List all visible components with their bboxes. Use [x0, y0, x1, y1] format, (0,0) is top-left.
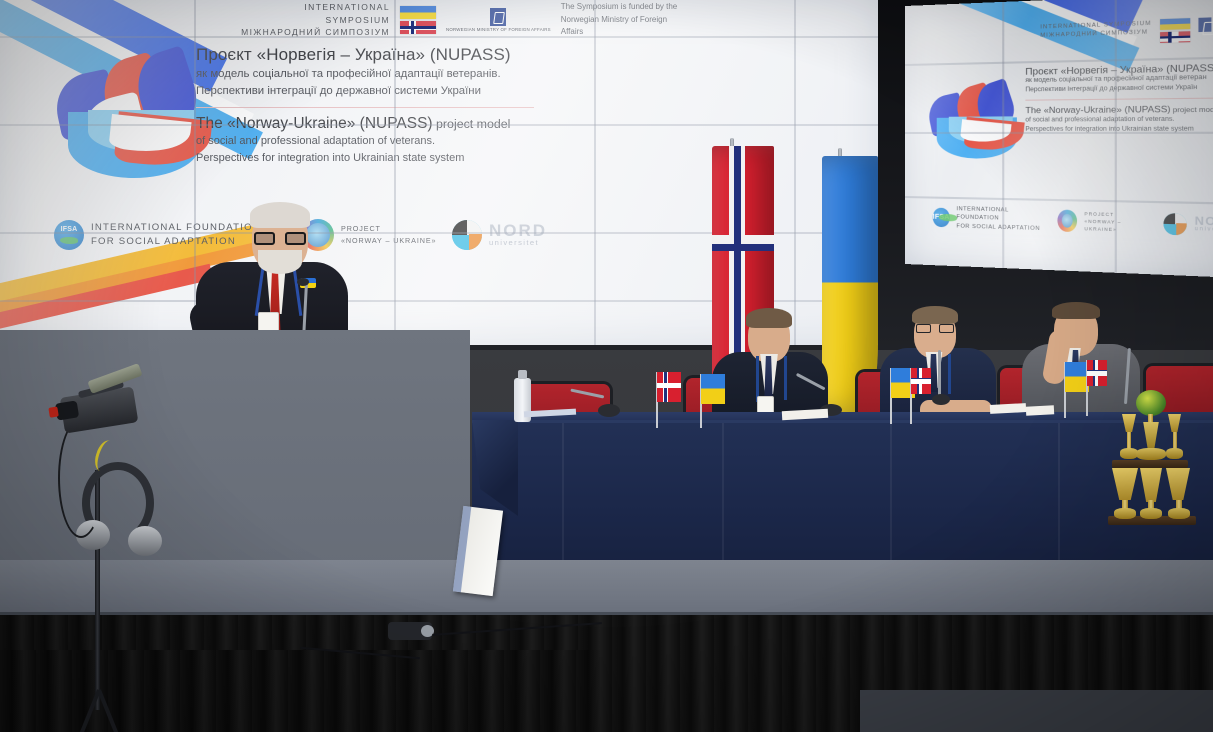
panel-seam	[1115, 0, 1117, 273]
panelist-2-hair	[912, 306, 958, 324]
side-ministry-logo	[1198, 17, 1211, 32]
trophy-globe-icon	[1136, 390, 1166, 416]
ukraine-flag-icon	[1160, 18, 1190, 30]
side-screen-text: Проєкт «Норвегія – Україна» (NUPASS) як …	[1025, 60, 1213, 134]
panel-seam	[905, 196, 1213, 205]
speaker-glasses-icon	[254, 232, 306, 245]
panelist-2-lanyard	[948, 354, 951, 394]
project-label-line2: «NORWAY – UKRAINE»	[341, 235, 436, 247]
ministry-crest-icon	[490, 8, 506, 26]
screen-header: INTERNATIONAL SYMPOSIUM МІЖНАРОДНИЙ СИМП…	[236, 0, 796, 40]
panelist-1-lanyard	[784, 356, 787, 400]
side-subtitle-en-1: of social and professional adaptation of…	[1025, 115, 1213, 125]
headphone-ear-cup	[128, 526, 162, 556]
panelist-1-hair	[746, 308, 792, 328]
panel-seam	[594, 0, 596, 345]
panelist-3-hair	[1052, 302, 1100, 319]
logo-project: PROJECT «NORWAY – UKRAINE»	[302, 219, 452, 251]
speaker-beard	[258, 250, 302, 274]
side-divider	[1025, 98, 1213, 101]
panelist-2-glasses-icon	[916, 324, 954, 333]
screen-logo-strip: INTERNATIONAL FOUNDATION FOR SOCIAL ADAP…	[54, 213, 574, 257]
ministry-crest-icon	[1198, 17, 1211, 32]
header-flags	[400, 6, 436, 34]
nord-circle-icon	[1163, 213, 1186, 235]
side-logo-nord: NORD universitet	[1163, 213, 1213, 237]
side-title-en: The «Norway-Ukraine» (NUPASS) project mo…	[1025, 103, 1213, 117]
funding-note: The Symposium is funded by the Norwegian…	[561, 1, 691, 38]
stage-monitor-box	[388, 622, 432, 640]
screen-divider	[196, 107, 534, 108]
side-nord-line2: universitet	[1195, 227, 1213, 234]
screen-subtitle-uk-2: Перспективи інтеграції до державної сист…	[196, 84, 596, 99]
panel-seam	[1002, 2, 1004, 268]
table-microphone-head	[932, 394, 950, 405]
side-ifsa-line2: FOR SOCIAL ADAPTATION	[956, 222, 1041, 233]
panel-seam	[905, 132, 1213, 134]
norway-desk-flag-cloth	[911, 368, 931, 394]
nord-label-line1: NORD	[489, 221, 547, 240]
screen-subtitle-en-2: Perspectives for integration into Ukrain…	[196, 151, 596, 166]
nord-circle-icon	[452, 220, 482, 250]
panel-seam	[394, 0, 396, 345]
side-led-screen: INTERNATIONAL SYMPOSIUM МІЖНАРОДНИЙ СИМП…	[905, 0, 1213, 278]
table-microphone-head	[598, 404, 620, 417]
norway-desk-flag-cloth	[1087, 360, 1107, 386]
panel-seam	[794, 0, 796, 345]
side-nupass-swoosh-logo	[927, 82, 1028, 176]
screen-subtitle-uk-1: як модель соціальної та професійної адап…	[196, 67, 596, 82]
symposium-heading-en: INTERNATIONAL SYMPOSIUM	[240, 1, 390, 27]
norway-flag-icon	[400, 21, 436, 34]
ukraine-desk-flag-cloth	[701, 374, 725, 404]
podium-microphone-head	[297, 278, 309, 286]
ifsa-globe-icon	[54, 220, 84, 250]
trophy-base-upper	[1112, 460, 1188, 468]
panel-seam	[0, 36, 878, 38]
camera-cable	[58, 418, 104, 538]
screen-text-block: Проєкт «Норвегія – Україна» (NUPASS) як …	[196, 45, 596, 166]
conference-photo-scene: INTERNATIONAL SYMPOSIUM МІЖНАРОДНИЙ СИМП…	[0, 0, 1213, 732]
side-header-flags	[1160, 18, 1190, 43]
screen-subtitle-en-1: of social and professional adaptation of…	[196, 134, 596, 149]
notebook-on-table	[990, 403, 1026, 414]
notebook-on-table	[1026, 405, 1054, 415]
ifsa-globe-icon	[933, 208, 950, 228]
side-screen-header: INTERNATIONAL SYMPOSIUM МІЖНАРОДНИЙ СИМП…	[1040, 17, 1211, 46]
norway-desk-flag-cloth	[657, 372, 681, 402]
speaker-hair	[250, 202, 310, 228]
ifsa-label-line2: FOR SOCIAL ADAPTATION	[91, 235, 261, 249]
side-logo-ifsa: INTERNATIONAL FOUNDATION FOR SOCIAL ADAP…	[933, 205, 1042, 234]
symposium-heading: INTERNATIONAL SYMPOSIUM МІЖНАРОДНИЙ СИМП…	[240, 1, 390, 39]
norwegian-ministry-logo: NORWEGIAN MINISTRY OF FOREIGN AFFAIRS	[446, 8, 551, 33]
floor-below-stage	[860, 690, 1213, 732]
ukraine-flag-icon	[400, 6, 436, 19]
ministry-logo-label: NORWEGIAN MINISTRY OF FOREIGN AFFAIRS	[446, 27, 551, 33]
side-ifsa-line1: INTERNATIONAL FOUNDATION	[956, 205, 1041, 224]
side-logo-project: PROJECT «NORWAY – UKRAINE»	[1057, 210, 1147, 235]
norway-flag-icon	[1160, 31, 1190, 43]
logo-nord: NORD universitet	[452, 220, 547, 250]
screen-title-uk: Проєкт «Норвегія – Україна» (NUPASS)	[196, 45, 596, 65]
camera-lens-icon	[55, 400, 79, 420]
nupass-swoosh-logo	[52, 52, 217, 202]
project-circle-icon	[1057, 210, 1077, 233]
side-title-en-rest: project mod	[1171, 107, 1213, 115]
side-logo-strip: INTERNATIONAL FOUNDATION FOR SOCIAL ADAP…	[933, 205, 1213, 240]
panel-seam	[0, 124, 878, 126]
stage-skirt-front	[0, 650, 600, 732]
nord-label-line2: universitet	[489, 239, 547, 246]
side-title-en-strong: The «Norway-Ukraine» (NUPASS)	[1025, 104, 1170, 116]
